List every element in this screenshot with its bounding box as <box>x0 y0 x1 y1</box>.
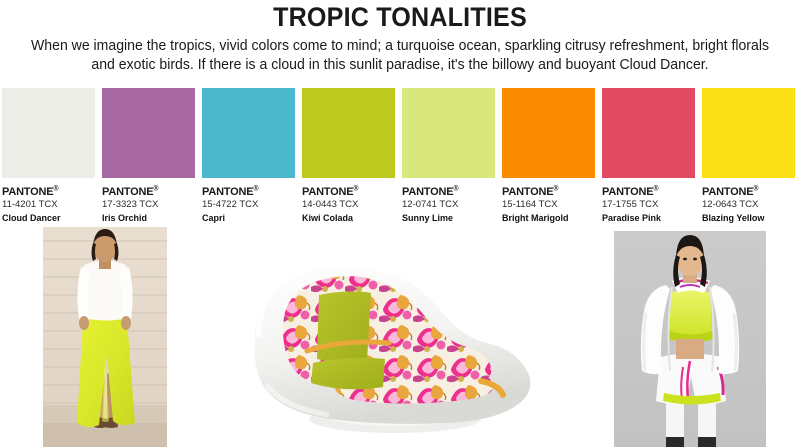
color-chip[interactable] <box>202 88 295 178</box>
pantone-name: Sunny Lime <box>402 212 495 226</box>
registered-mark: ® <box>53 185 58 192</box>
pantone-code: 14-0443 TCX <box>302 198 395 212</box>
swatch-meta: PANTONE® 12-0643 TCX Blazing Yellow <box>702 178 795 225</box>
swatch-meta: PANTONE® 11-4201 TCX Cloud Dancer <box>2 178 95 225</box>
pantone-label: PANTONE <box>202 186 253 198</box>
photo-sportswear <box>614 231 766 447</box>
pantone-code: 12-0741 TCX <box>402 198 495 212</box>
pantone-label: PANTONE <box>102 186 153 198</box>
header: TROPIC TONALITIES When we imagine the tr… <box>0 0 800 74</box>
pantone-wordmark: PANTONE® <box>102 186 195 198</box>
swatch-paradise-pink[interactable]: PANTONE® 17-1755 TCX Paradise Pink <box>602 88 695 225</box>
pantone-code: 17-1755 TCX <box>602 198 695 212</box>
pantone-wordmark: PANTONE® <box>302 186 395 198</box>
pantone-wordmark: PANTONE® <box>502 186 595 198</box>
photo-paisley-chair <box>243 233 565 441</box>
swatch-bright-marigold[interactable]: PANTONE® 15-1164 TCX Bright Marigold <box>502 88 595 225</box>
pantone-name: Bright Marigold <box>502 212 595 226</box>
pantone-name: Paradise Pink <box>602 212 695 226</box>
pantone-label: PANTONE <box>302 186 353 198</box>
swatch-blazing-yellow[interactable]: PANTONE® 12-0643 TCX Blazing Yellow <box>702 88 795 225</box>
registered-mark: ® <box>253 185 258 192</box>
color-chip[interactable] <box>602 88 695 178</box>
pantone-wordmark: PANTONE® <box>702 186 795 198</box>
pantone-label: PANTONE <box>602 186 653 198</box>
pantone-wordmark: PANTONE® <box>202 186 295 198</box>
swatch-meta: PANTONE® 15-1164 TCX Bright Marigold <box>502 178 595 225</box>
pantone-name: Iris Orchid <box>102 212 195 226</box>
photo-runway-lime <box>43 227 167 447</box>
pantone-label: PANTONE <box>2 186 53 198</box>
registered-mark: ® <box>453 185 458 192</box>
color-chip[interactable] <box>702 88 795 178</box>
pantone-wordmark: PANTONE® <box>602 186 695 198</box>
pantone-name: Blazing Yellow <box>702 212 795 226</box>
swatch-meta: PANTONE® 15-4722 TCX Capri <box>202 178 295 225</box>
color-chip[interactable] <box>2 88 95 178</box>
pantone-code: 11-4201 TCX <box>2 198 95 212</box>
swatch-meta: PANTONE® 12-0741 TCX Sunny Lime <box>402 178 495 225</box>
swatch-meta: PANTONE® 14-0443 TCX Kiwi Colada <box>302 178 395 225</box>
pantone-code: 17-3323 TCX <box>102 198 195 212</box>
swatch-iris-orchid[interactable]: PANTONE® 17-3323 TCX Iris Orchid <box>102 88 195 225</box>
swatch-cloud-dancer[interactable]: PANTONE® 11-4201 TCX Cloud Dancer <box>2 88 95 225</box>
pantone-name: Kiwi Colada <box>302 212 395 226</box>
swatch-capri[interactable]: PANTONE® 15-4722 TCX Capri <box>202 88 295 225</box>
pantone-code: 15-1164 TCX <box>502 198 595 212</box>
registered-mark: ® <box>653 185 658 192</box>
color-chip[interactable] <box>502 88 595 178</box>
pantone-wordmark: PANTONE® <box>2 186 95 198</box>
pantone-code: 15-4722 TCX <box>202 198 295 212</box>
color-chip[interactable] <box>302 88 395 178</box>
page-subtitle: When we imagine the tropics, vivid color… <box>26 37 775 74</box>
pantone-label: PANTONE <box>502 186 553 198</box>
pantone-name: Cloud Dancer <box>2 212 95 226</box>
pantone-label: PANTONE <box>702 186 753 198</box>
color-chip[interactable] <box>102 88 195 178</box>
swatch-meta: PANTONE® 17-1755 TCX Paradise Pink <box>602 178 695 225</box>
registered-mark: ® <box>553 185 558 192</box>
pantone-name: Capri <box>202 212 295 226</box>
color-palette: PANTONE® 11-4201 TCX Cloud Dancer PANTON… <box>2 88 798 225</box>
registered-mark: ® <box>353 185 358 192</box>
swatch-meta: PANTONE® 17-3323 TCX Iris Orchid <box>102 178 195 225</box>
pantone-code: 12-0643 TCX <box>702 198 795 212</box>
pantone-label: PANTONE <box>402 186 453 198</box>
swatch-kiwi-colada[interactable]: PANTONE® 14-0443 TCX Kiwi Colada <box>302 88 395 225</box>
swatch-sunny-lime[interactable]: PANTONE® 12-0741 TCX Sunny Lime <box>402 88 495 225</box>
page-title: TROPIC TONALITIES <box>28 4 772 31</box>
registered-mark: ® <box>753 185 758 192</box>
registered-mark: ® <box>153 185 158 192</box>
color-chip[interactable] <box>402 88 495 178</box>
pantone-wordmark: PANTONE® <box>402 186 495 198</box>
